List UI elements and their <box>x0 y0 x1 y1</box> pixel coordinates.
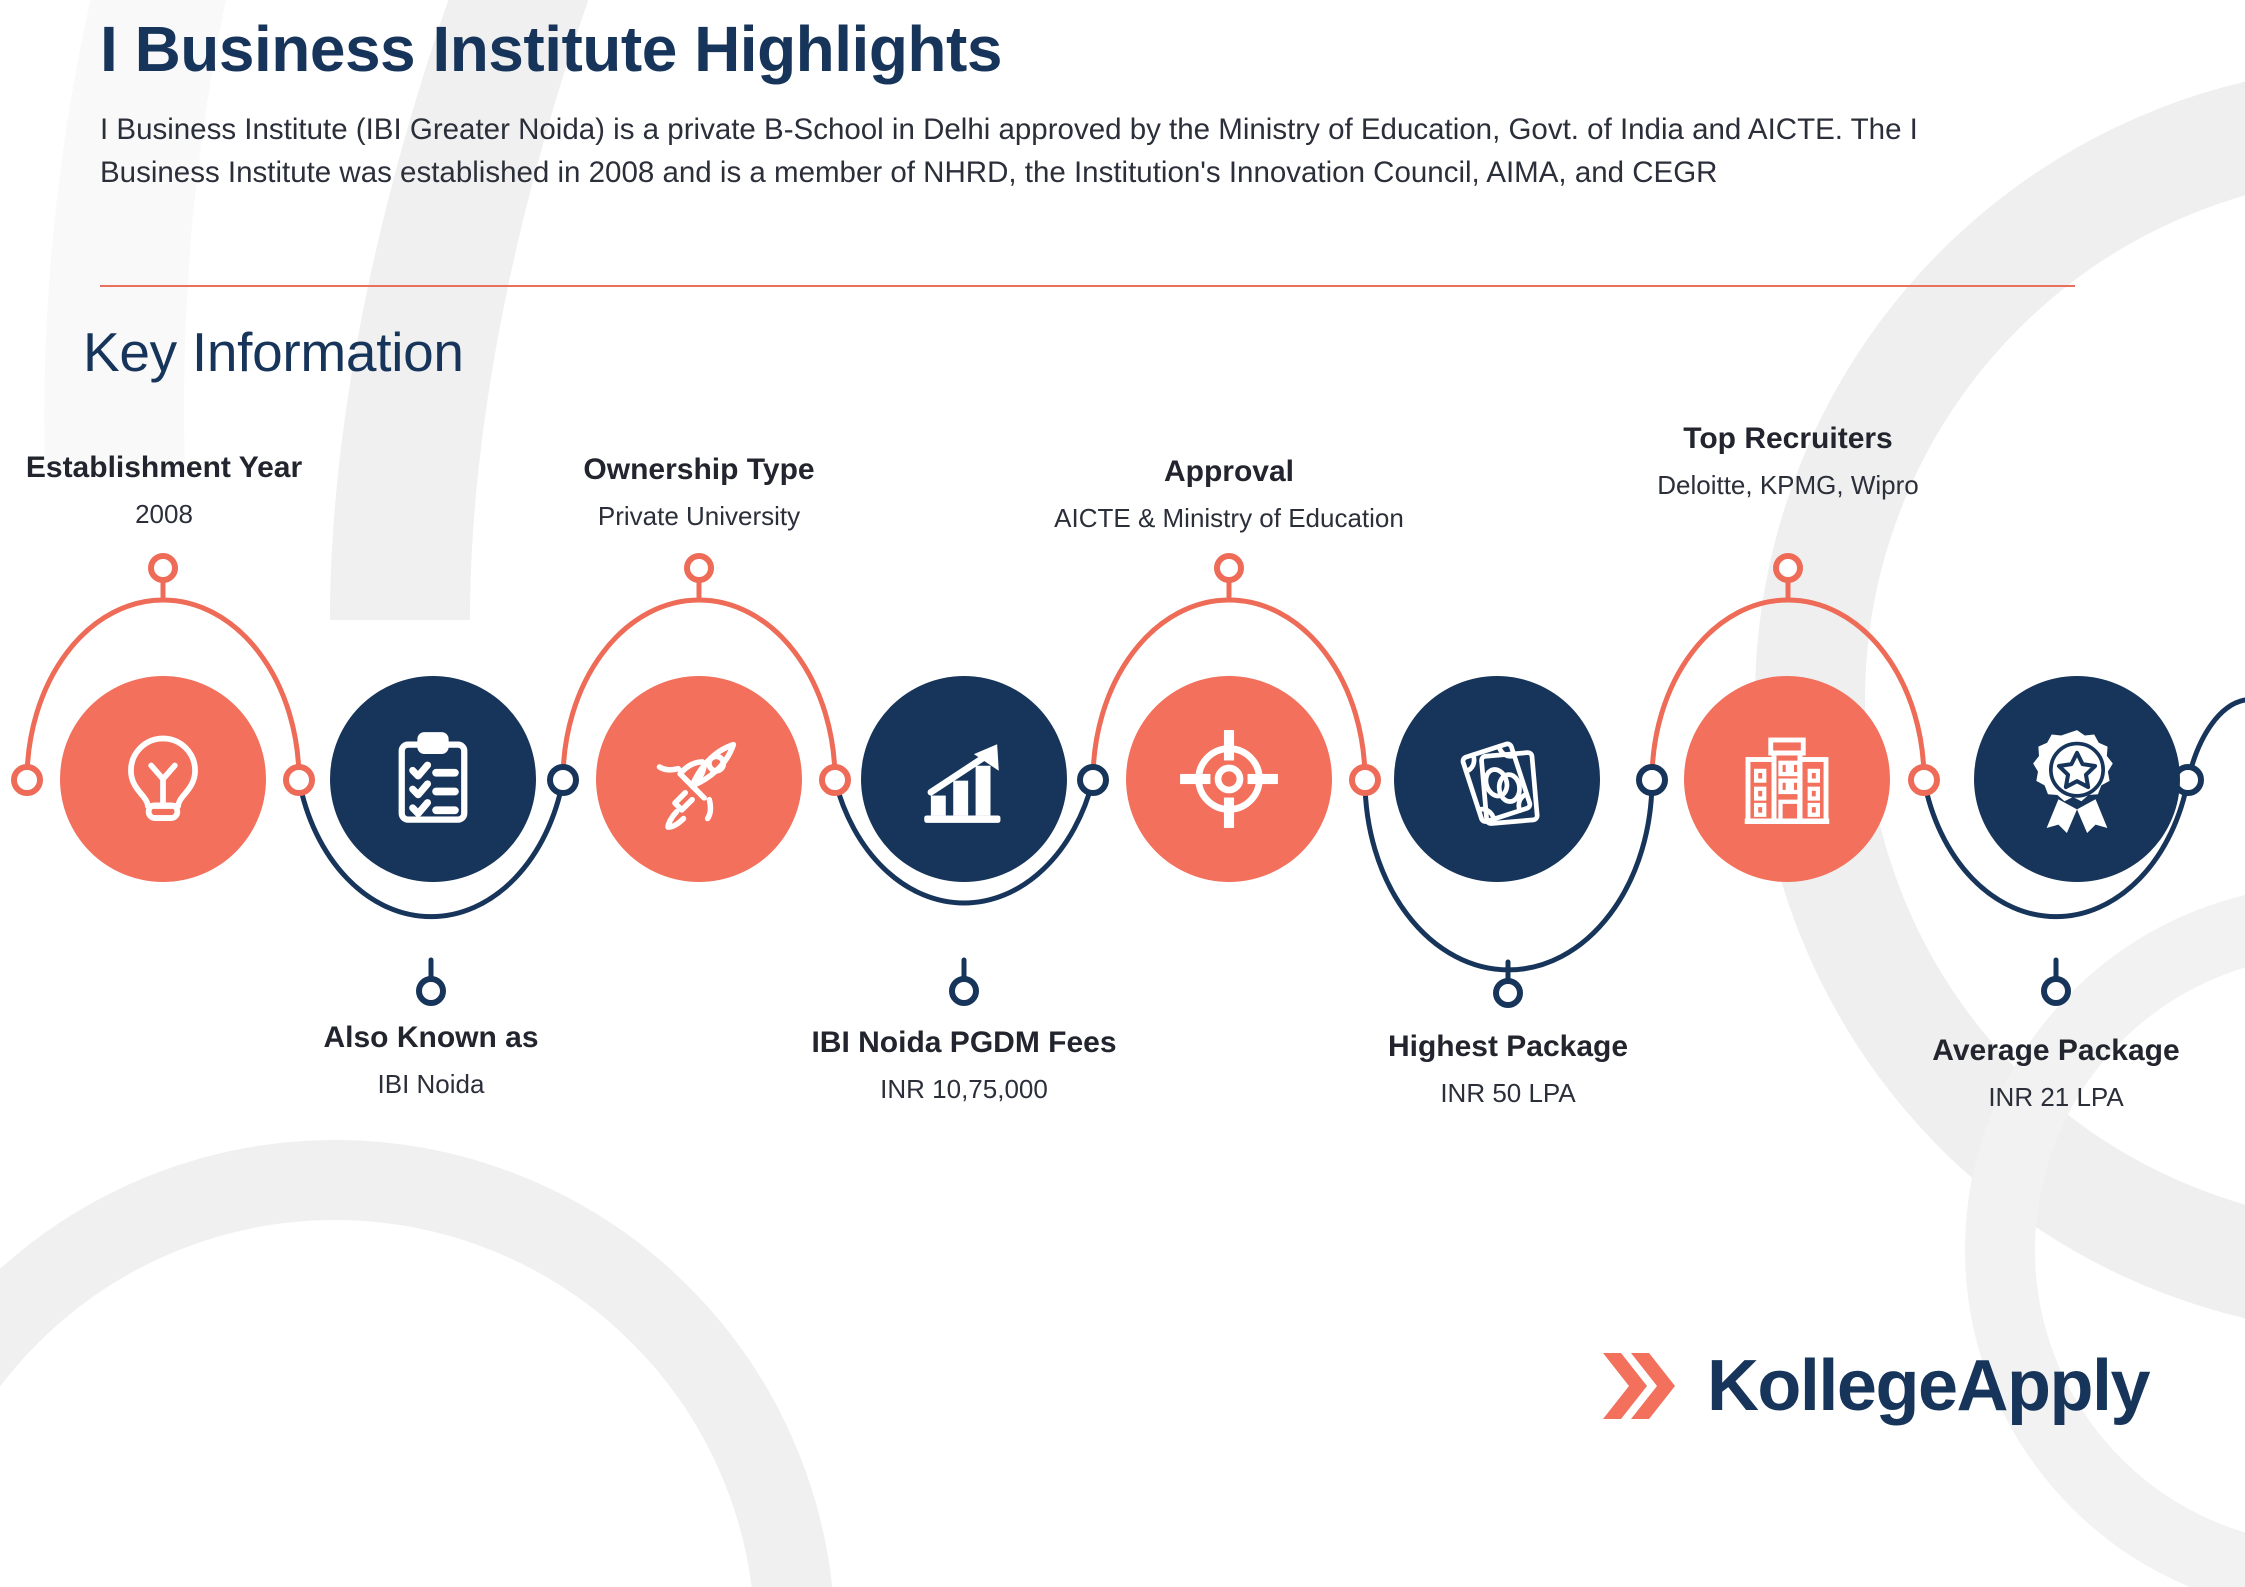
target-icon <box>1175 725 1283 833</box>
label-dot <box>419 979 443 1003</box>
brand-logo[interactable]: KollegeApply <box>1599 1345 2149 1427</box>
header-block: I Business Institute Highlights I Busine… <box>100 14 2100 194</box>
rocket-icon <box>644 724 754 834</box>
clipboard-checklist-icon <box>383 729 483 829</box>
connector-dot <box>14 767 40 793</box>
node-pgdm-fees[interactable] <box>861 676 1067 882</box>
label-top-recruiters: Top Recruiters Deloitte, KPMG, Wipro <box>1438 421 2138 501</box>
connector-dot <box>1352 767 1378 793</box>
award-ribbon-icon <box>2023 725 2131 833</box>
connector-dot <box>286 767 312 793</box>
label-value: INR 21 LPA <box>1706 1082 2245 1113</box>
bar-chart-growth-icon <box>911 726 1017 832</box>
label-title: Average Package <box>1706 1033 2245 1069</box>
node-approval[interactable] <box>1126 676 1332 882</box>
label-dot <box>687 556 711 580</box>
label-dot <box>1776 556 1800 580</box>
header-divider <box>100 285 2075 287</box>
infographic-canvas: I Business Institute Highlights I Busine… <box>0 0 2245 1587</box>
node-highest-package[interactable] <box>1394 676 1600 882</box>
node-also-known-as[interactable] <box>330 676 536 882</box>
label-dot <box>151 556 175 580</box>
node-average-package[interactable] <box>1974 676 2180 882</box>
label-value: AICTE & Ministry of Education <box>879 503 1579 534</box>
label-title: Top Recruiters <box>1438 421 2138 457</box>
label-dot <box>952 979 976 1003</box>
money-notes-icon <box>1443 725 1551 833</box>
brand-name: KollegeApply <box>1707 1345 2149 1427</box>
label-dot <box>1496 981 1520 1005</box>
label-average-package: Average Package INR 21 LPA <box>1706 1033 2245 1113</box>
label-dot <box>1217 556 1241 580</box>
connector-dot <box>822 767 848 793</box>
building-icon <box>1735 727 1839 831</box>
label-value: Deloitte, KPMG, Wipro <box>1438 470 2138 501</box>
double-chevron-icon <box>1599 1349 1685 1423</box>
page-title: I Business Institute Highlights <box>100 14 2100 86</box>
connector-dot <box>1080 767 1106 793</box>
node-top-recruiters[interactable] <box>1684 676 1890 882</box>
connector-dot <box>550 767 576 793</box>
connector-dot <box>1911 767 1937 793</box>
node-establishment-year[interactable] <box>60 676 266 882</box>
lightbulb-icon <box>109 725 217 833</box>
label-dot <box>2044 979 2068 1003</box>
connector-dot <box>1639 767 1665 793</box>
node-ownership-type[interactable] <box>596 676 802 882</box>
page-description: I Business Institute (IBI Greater Noida)… <box>100 108 2005 195</box>
section-title: Key Information <box>83 320 464 384</box>
